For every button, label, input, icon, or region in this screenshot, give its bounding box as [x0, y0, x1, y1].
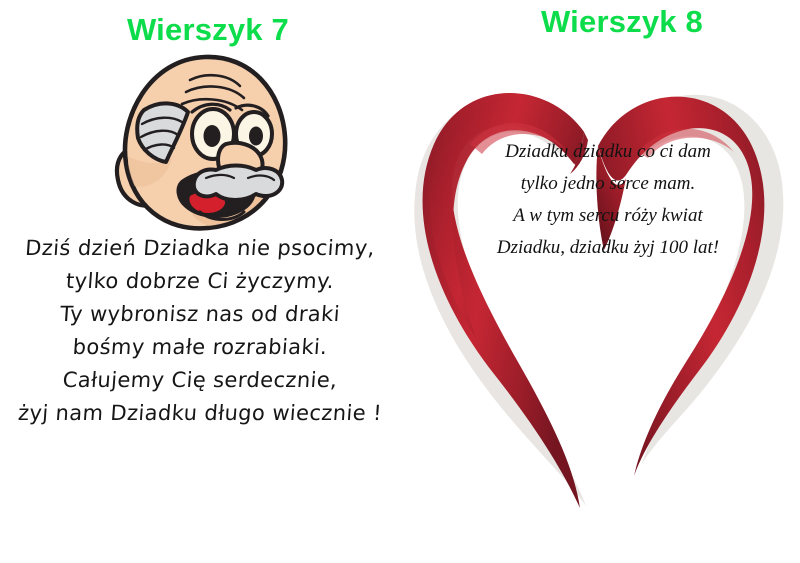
poem-title-left: Wierszyk 7	[8, 12, 408, 48]
poem-panel-left: Wierszyk 7	[0, 0, 400, 563]
poem-text-right: Dziadku dziadku co ci dam tylko jedno se…	[448, 136, 768, 264]
grandpa-mustache	[194, 166, 282, 201]
poem-line: Ty wybronisz nas od draki	[0, 298, 401, 331]
poem-line: A w tym sercu róży kwiat	[448, 200, 768, 232]
poem-line: Dziadku dziadku co ci dam	[448, 136, 768, 168]
grandpa-pupil-left	[204, 125, 221, 147]
poem-line: żyj nam Dziadku długo wiecznie !	[0, 397, 401, 430]
poem-line: bośmy małe rozrabiaki.	[0, 331, 401, 364]
poem-card-page: Wierszyk 7	[0, 0, 800, 563]
grandpa-face-illustration	[108, 52, 294, 238]
poem-title-right: Wierszyk 8	[422, 4, 800, 40]
poem-text-left: Dziś dzień Dziadka nie psocimy, tylko do…	[0, 232, 400, 430]
poem-line: tylko jedno serce mam.	[448, 168, 768, 200]
poem-line: Całujemy Cię serdecznie,	[0, 364, 401, 397]
poem-line: Dziadku, dziadku żyj 100 lat!	[448, 232, 768, 264]
grandpa-pupil-right	[249, 127, 263, 146]
poem-panel-right: Wierszyk 8 Dziadku dziadku co ci dam tyl…	[400, 0, 800, 563]
heart-illustration	[398, 28, 798, 540]
poem-line: Dziś dzień Dziadka nie psocimy,	[0, 232, 401, 265]
poem-line: tylko dobrze Ci życzymy.	[0, 265, 401, 298]
